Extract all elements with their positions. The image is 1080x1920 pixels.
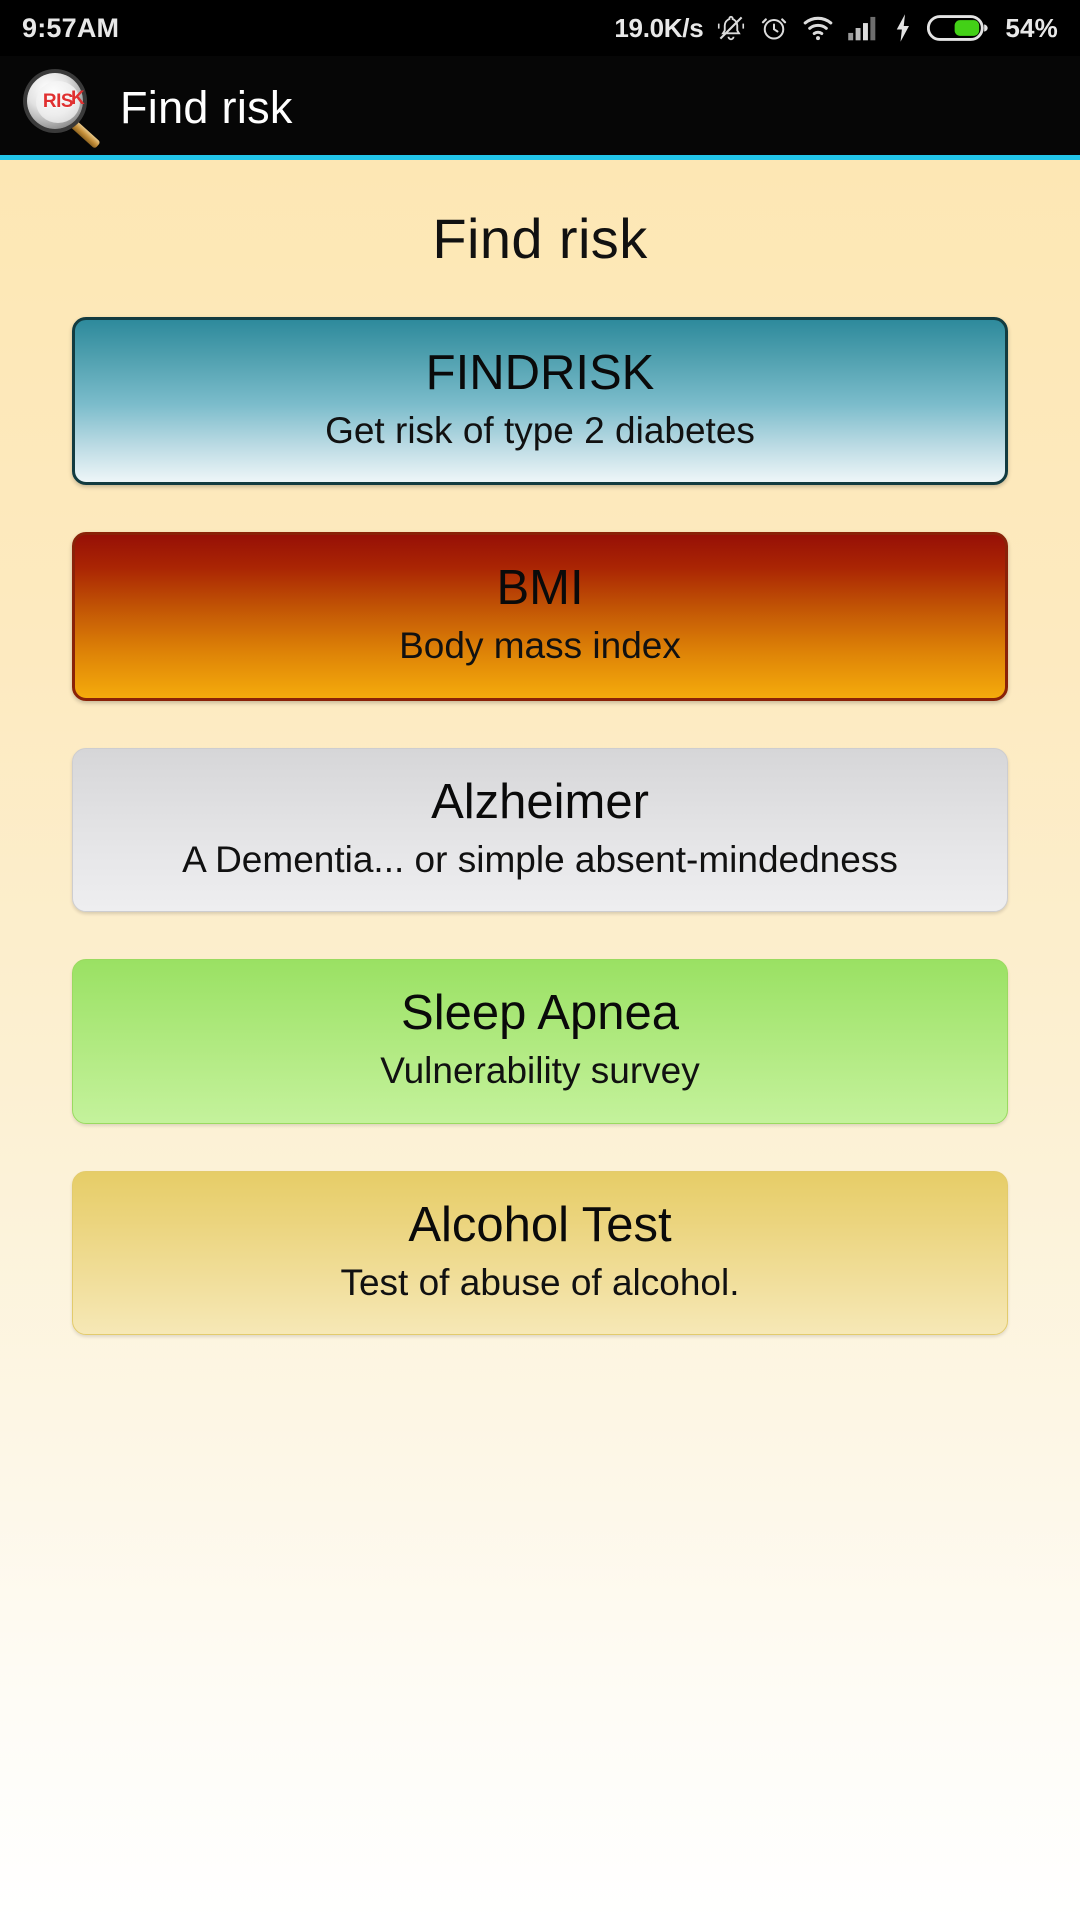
magnifier-handle-icon bbox=[68, 118, 101, 149]
risk-magnifier-logo: RIS K bbox=[24, 71, 98, 145]
card-title: Alzheimer bbox=[91, 775, 989, 830]
app-bar-title: Find risk bbox=[120, 82, 293, 134]
alarm-clock-icon bbox=[759, 13, 789, 43]
cellular-signal-icon bbox=[847, 13, 879, 43]
card-title: FINDRISK bbox=[93, 346, 987, 401]
card-title: BMI bbox=[93, 561, 987, 616]
status-bar: 9:57AM 19.0K/s bbox=[0, 0, 1080, 56]
card-subtitle: Get risk of type 2 diabetes bbox=[93, 410, 987, 453]
bell-muted-icon bbox=[716, 13, 746, 43]
battery-icon bbox=[927, 13, 989, 43]
main-content: Find risk FINDRISK Get risk of type 2 di… bbox=[0, 160, 1080, 1920]
risk-test-list: FINDRISK Get risk of type 2 diabetes BMI… bbox=[72, 317, 1008, 1382]
app-bar: RIS K Find risk bbox=[0, 56, 1080, 160]
card-subtitle: Test of abuse of alcohol. bbox=[91, 1262, 989, 1305]
logo-risk-text-tail: K bbox=[71, 88, 85, 110]
logo-risk-text: RIS bbox=[43, 91, 73, 113]
status-bar-clock: 9:57AM bbox=[22, 13, 119, 44]
status-bar-icon-group: 19.0K/s bbox=[614, 13, 1058, 44]
card-title: Sleep Apnea bbox=[91, 986, 989, 1041]
card-title: Alcohol Test bbox=[91, 1198, 989, 1253]
charging-bolt-icon bbox=[892, 13, 914, 43]
card-findrisk[interactable]: FINDRISK Get risk of type 2 diabetes bbox=[72, 317, 1008, 485]
page-title: Find risk bbox=[72, 160, 1008, 317]
card-alzheimer[interactable]: Alzheimer A Dementia... or simple absent… bbox=[72, 748, 1008, 912]
app-screen: 9:57AM 19.0K/s bbox=[0, 0, 1080, 1920]
card-subtitle: A Dementia... or simple absent-mindednes… bbox=[91, 839, 989, 882]
card-subtitle: Vulnerability survey bbox=[91, 1050, 989, 1093]
wifi-icon bbox=[802, 13, 834, 43]
battery-percent-label: 54% bbox=[1005, 13, 1058, 44]
card-sleep-apnea[interactable]: Sleep Apnea Vulnerability survey bbox=[72, 959, 1008, 1123]
card-subtitle: Body mass index bbox=[93, 625, 987, 668]
network-speed-label: 19.0K/s bbox=[614, 13, 703, 44]
card-bmi[interactable]: BMI Body mass index bbox=[72, 532, 1008, 700]
card-alcohol-test[interactable]: Alcohol Test Test of abuse of alcohol. bbox=[72, 1171, 1008, 1335]
